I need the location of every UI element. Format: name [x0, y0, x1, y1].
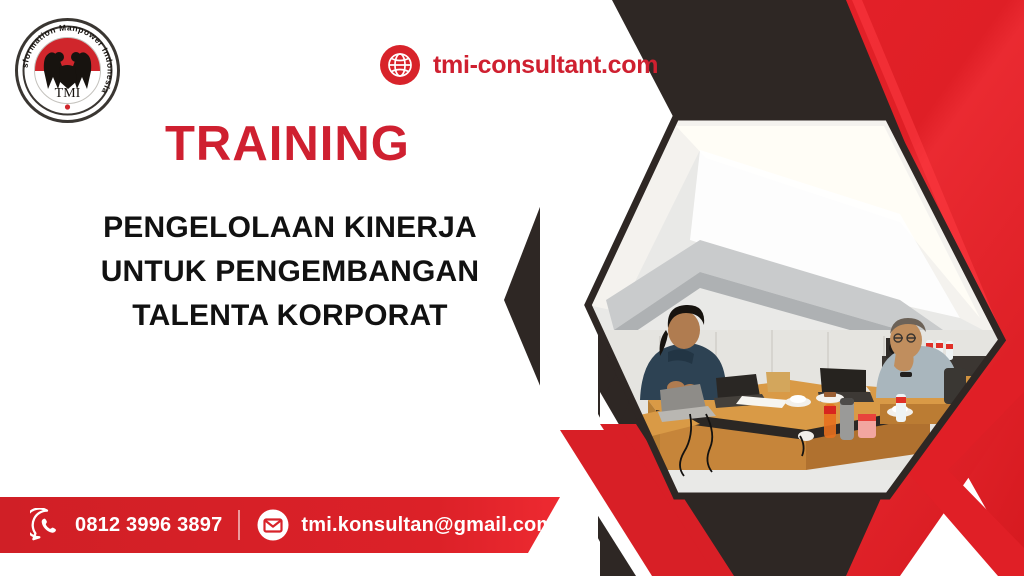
contact-list: 0812 3996 3897 tmi.konsultan@gmail.com — [0, 497, 554, 553]
envelope-icon — [256, 508, 290, 542]
whatsapp-icon — [30, 508, 64, 542]
website-url: tmi-consultant.com — [433, 53, 658, 78]
title-line-1: PENGELOLAAN KINERJA — [40, 206, 540, 250]
contact-email[interactable]: tmi.konsultan@gmail.com — [256, 497, 554, 553]
title-line-3: TALENTA KORPORAT — [40, 294, 540, 338]
page-title: PENGELOLAAN KINERJA UNTUK PENGEMBANGAN T… — [40, 206, 540, 338]
globe-icon — [379, 44, 421, 86]
kicker-training: TRAINING — [165, 120, 410, 169]
contact-divider — [238, 510, 240, 540]
laptop-3 — [766, 372, 790, 392]
poster-canvas: TMI Transformation Manpower Indonesia — [0, 0, 1024, 576]
contact-phone[interactable]: 0812 3996 3897 — [30, 497, 222, 553]
svg-text:TMI: TMI — [55, 86, 81, 101]
title-line-2: UNTUK PENGEMBANGAN — [40, 250, 540, 294]
contact-email-value: tmi.konsultan@gmail.com — [301, 515, 554, 535]
tmi-logo: TMI Transformation Manpower Indonesia — [14, 17, 121, 124]
tmi-circular-logo-icon: TMI Transformation Manpower Indonesia — [14, 17, 121, 124]
contact-phone-value: 0812 3996 3897 — [75, 515, 222, 535]
website-line[interactable]: tmi-consultant.com — [379, 44, 658, 86]
